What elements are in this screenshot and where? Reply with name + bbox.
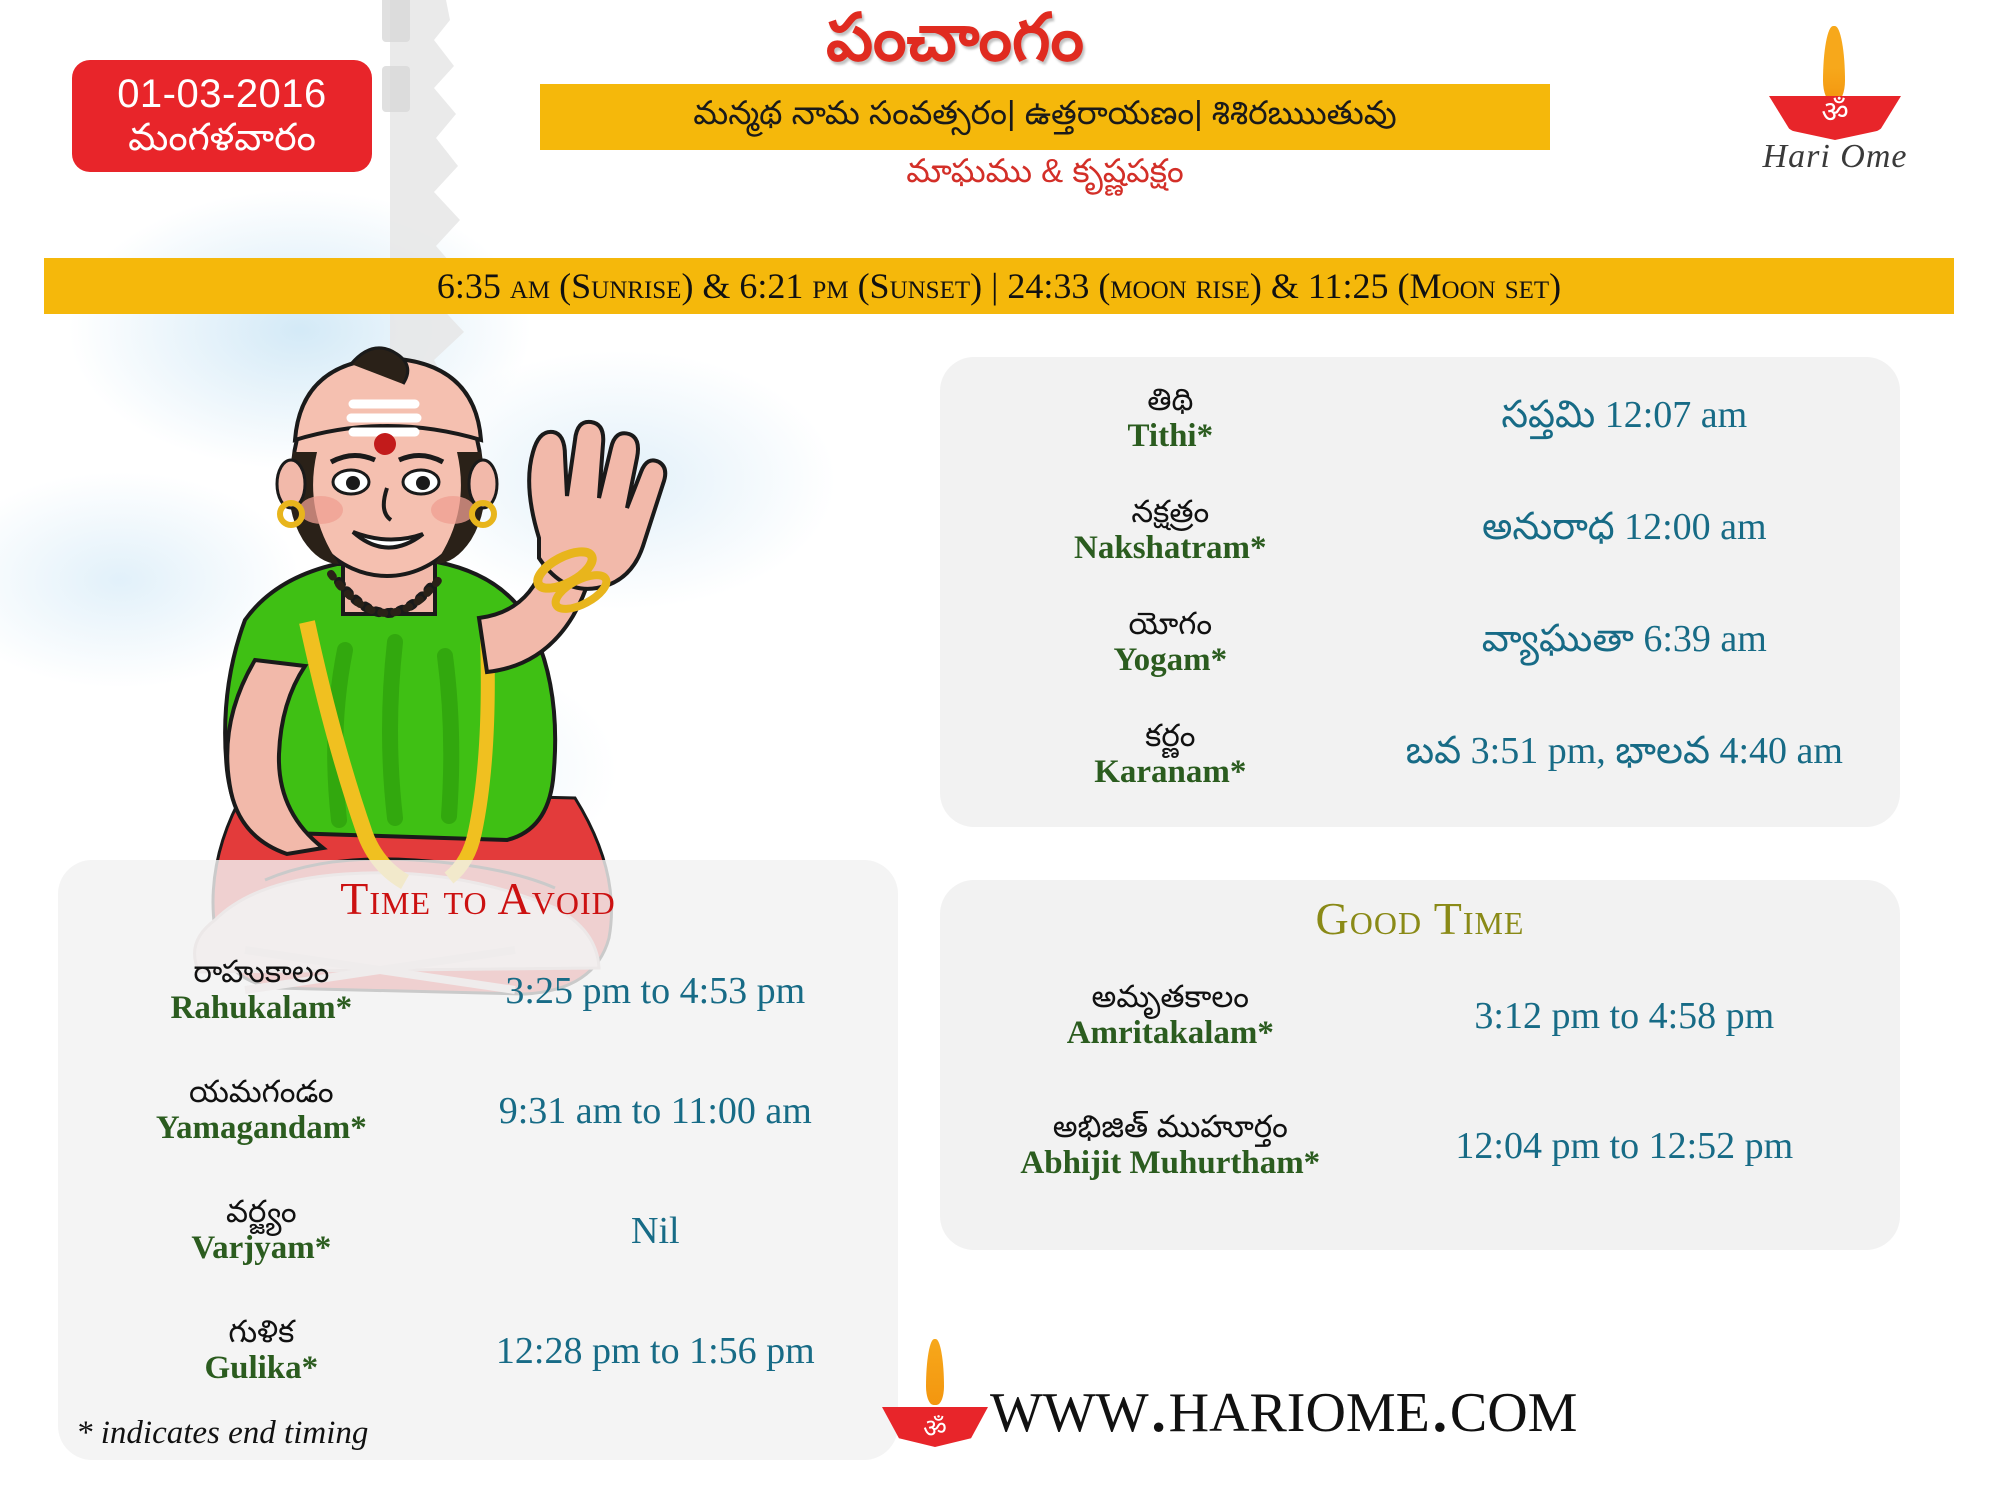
- row-label: అభిజిత్ ముహూర్తం Abhijit Muhurtham*: [966, 1110, 1375, 1182]
- table-row: యోగం Yogam* వ్యాఘుతా 6:39 am: [966, 587, 1874, 699]
- row-label: రాహుకాలం Rahukalam*: [84, 955, 439, 1027]
- row-label-telugu: గుళిక: [84, 1315, 439, 1350]
- time-to-avoid-rows: రాహుకాలం Rahukalam* 3:25 pm to 4:53 pm య…: [58, 925, 898, 1411]
- row-label-telugu: వర్జ్యం: [84, 1195, 439, 1230]
- diya-lamp-icon: ॐ: [1765, 26, 1905, 134]
- row-label: గుళిక Gulika*: [84, 1315, 439, 1387]
- table-row: తిథి Tithi* సప్తమి 12:07 am: [966, 363, 1874, 475]
- row-label-telugu: కర్ణం: [966, 719, 1375, 754]
- row-label: వర్జ్యం Varjyam*: [84, 1195, 439, 1267]
- page-title: పంచాంగం: [560, 4, 1350, 70]
- website-url[interactable]: www.hariome.com: [990, 1360, 1577, 1451]
- sunrise-sunset-banner: 6:35 am (Sunrise) & 6:21 pm (Sunset) | 2…: [44, 258, 1954, 314]
- table-row: గుళిక Gulika* 12:28 pm to 1:56 pm: [84, 1291, 872, 1411]
- row-label: యోగం Yogam*: [966, 607, 1375, 679]
- row-label-english: Tithi*: [966, 418, 1375, 455]
- row-label-english: Nakshatram*: [966, 530, 1375, 567]
- row-value: సప్తమి 12:07 am: [1375, 393, 1874, 446]
- time-to-avoid-heading: Time to Avoid: [58, 860, 898, 925]
- logo-wordmark: Hari Ome: [1763, 138, 1908, 176]
- row-label-english: Yogam*: [966, 642, 1375, 679]
- tithi-rows: తిథి Tithi* సప్తమి 12:07 am నక్షత్రం Nak…: [940, 357, 1900, 811]
- row-label-telugu: అభిజిత్ ముహూర్తం: [966, 1110, 1375, 1145]
- row-value: 3:12 pm to 4:58 pm: [1375, 994, 1874, 1038]
- footer-flame-icon: [926, 1339, 944, 1405]
- footer-om-symbol-icon: ॐ: [880, 1409, 990, 1445]
- row-label-english: Karanam*: [966, 754, 1375, 791]
- row-label-telugu: అమృతకాలం: [966, 980, 1375, 1015]
- website-footer[interactable]: ॐ www.hariome.com: [880, 1330, 1990, 1480]
- good-time-panel: Good Time అమృతకాలం Amritakalam* 3:12 pm …: [940, 880, 1900, 1250]
- row-label: నక్షత్రం Nakshatram*: [966, 495, 1375, 567]
- row-label-english: Varjyam*: [84, 1230, 439, 1267]
- footer-diya-icon: ॐ: [880, 1335, 990, 1475]
- flame-icon: [1823, 26, 1845, 102]
- om-symbol-icon: ॐ: [1765, 98, 1905, 128]
- tithi-details-panel: తిథి Tithi* సప్తమి 12:07 am నక్షత్రం Nak…: [940, 357, 1900, 827]
- row-label-english: Gulika*: [84, 1350, 439, 1387]
- page-header: 01-03-2016 మంగళవారం పంచాంగం మన్మథ నామ సం…: [0, 0, 2000, 258]
- table-row: యమగండం Yamagandam* 9:31 am to 11:00 am: [84, 1051, 872, 1171]
- hari-ome-logo[interactable]: ॐ Hari Ome: [1690, 26, 1980, 196]
- good-time-rows: అమృతకాలం Amritakalam* 3:12 pm to 4:58 pm…: [940, 945, 1900, 1211]
- row-label-english: Abhijit Muhurtham*: [966, 1145, 1375, 1182]
- row-label-telugu: యమగండం: [84, 1075, 439, 1110]
- table-row: వర్జ్యం Varjyam* Nil: [84, 1171, 872, 1291]
- row-label-telugu: నక్షత్రం: [966, 495, 1375, 530]
- row-value: 12:04 pm to 12:52 pm: [1375, 1124, 1874, 1168]
- row-value: అనురాధ 12:00 am: [1375, 505, 1874, 558]
- row-value: 9:31 am to 11:00 am: [439, 1089, 872, 1133]
- row-value: 3:25 pm to 4:53 pm: [439, 969, 872, 1013]
- masam-paksham-text: మాఘము & కృష్ణపక్షం: [540, 152, 1550, 198]
- row-label-telugu: యోగం: [966, 607, 1375, 642]
- row-value: 12:28 pm to 1:56 pm: [439, 1329, 872, 1373]
- samvatsara-banner: మన్మథ నామ సంవత్సరం| ఉత్తరాయణం| శిశిరఋుతు…: [540, 84, 1550, 150]
- row-label-telugu: తిథి: [966, 383, 1375, 418]
- row-label: తిథి Tithi*: [966, 383, 1375, 455]
- row-label-english: Amritakalam*: [966, 1015, 1375, 1052]
- footnote-text: * indicates end timing: [76, 1415, 368, 1452]
- table-row: అమృతకాలం Amritakalam* 3:12 pm to 4:58 pm: [966, 951, 1874, 1081]
- time-to-avoid-panel: Time to Avoid రాహుకాలం Rahukalam* 3:25 p…: [58, 860, 898, 1460]
- row-value: Nil: [439, 1209, 872, 1253]
- good-time-heading: Good Time: [940, 880, 1900, 945]
- weekday-value: మంగళవారం: [128, 117, 316, 160]
- table-row: రాహుకాలం Rahukalam* 3:25 pm to 4:53 pm: [84, 931, 872, 1051]
- row-value: వ్యాఘుతా 6:39 am: [1375, 617, 1874, 670]
- row-label: కర్ణం Karanam*: [966, 719, 1375, 791]
- table-row: కర్ణం Karanam* బవ 3:51 pm, భాలవ 4:40 am: [966, 699, 1874, 811]
- date-badge: 01-03-2016 మంగళవారం: [72, 60, 372, 172]
- table-row: నక్షత్రం Nakshatram* అనురాధ 12:00 am: [966, 475, 1874, 587]
- date-value: 01-03-2016: [117, 72, 327, 117]
- row-label-telugu: రాహుకాలం: [84, 955, 439, 990]
- row-label-english: Yamagandam*: [84, 1110, 439, 1147]
- row-label-english: Rahukalam*: [84, 990, 439, 1027]
- row-value: బవ 3:51 pm, భాలవ 4:40 am: [1375, 729, 1874, 782]
- row-label: యమగండం Yamagandam*: [84, 1075, 439, 1147]
- row-label: అమృతకాలం Amritakalam*: [966, 980, 1375, 1052]
- table-row: అభిజిత్ ముహూర్తం Abhijit Muhurtham* 12:0…: [966, 1081, 1874, 1211]
